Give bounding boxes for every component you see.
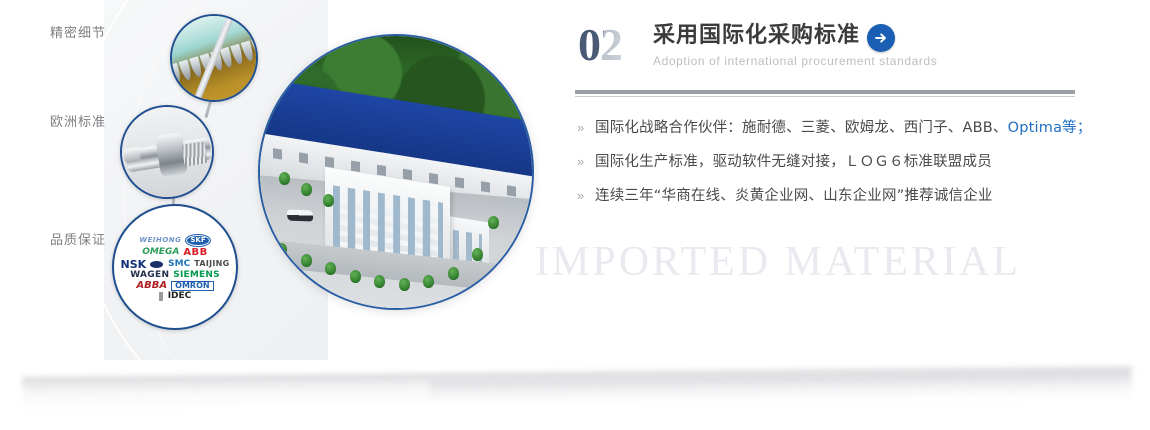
logo-omron: OMRON xyxy=(171,281,213,291)
logo-skf: SKF xyxy=(185,234,210,247)
screw-threads xyxy=(182,141,208,166)
section-header: 02 采用国际化采购标准 Adoption of international p… xyxy=(575,22,1095,88)
list-item: » 连续三年“华商在线、炎黄企业网、山东企业网”推荐诚信企业 xyxy=(577,186,1092,206)
right-content: 02 采用国际化采购标准 Adoption of international p… xyxy=(575,0,1095,430)
arrow-right-circle-icon[interactable] xyxy=(867,24,895,52)
bullet-text: 国际化生产标准，驱动软件无缝对接，ＬＯＧ６标准联盟成员 xyxy=(595,152,992,172)
bullet-text-highlight: Optima等； xyxy=(1008,120,1092,136)
list-item: » 国际化生产标准，驱动软件无缝对接，ＬＯＧ６标准联盟成员 xyxy=(577,152,1092,172)
watermark-text: IMPORTED MATERIAL xyxy=(535,238,1135,286)
bubble-brand-logos: WEIHONG SKF OMEGA ABB NSK SMC TAIJING WA… xyxy=(112,204,238,330)
page-root: 精密细节 欧洲标准 品质保证 WEIHONG SKF xyxy=(0,0,1150,430)
bullet-text: 连续三年“华商在线、炎黄企业网、山东企业网”推荐诚信企业 xyxy=(595,186,993,206)
factory-aerial-photo xyxy=(258,34,534,310)
label-quality-assurance: 品质保证 xyxy=(50,229,106,248)
bubble-blade-detail xyxy=(170,14,258,102)
logo-idec: IDEC xyxy=(168,292,192,301)
logo-smc: SMC xyxy=(168,260,190,269)
logo-omega: OMEGA xyxy=(142,248,179,257)
label-european-standard: 欧洲标准 xyxy=(50,111,106,130)
list-item: » 国际化战略合作伙伴：施耐德、三菱、欧姆龙、西门子、ABB、Optima等； xyxy=(577,118,1092,138)
chevron-double-right-icon: » xyxy=(577,186,595,206)
section-number: 02 xyxy=(578,22,622,68)
chevron-double-right-icon: » xyxy=(577,152,595,172)
logo-nsk: NSK xyxy=(120,259,146,270)
logo-abba: ABBA xyxy=(136,281,167,291)
logo-abb: ABB xyxy=(183,248,207,258)
bullet-text-main: 国际化战略合作伙伴：施耐德、三菱、欧姆龙、西门子、ABB、 xyxy=(595,120,1008,136)
header-text-block: 采用国际化采购标准 Adoption of international proc… xyxy=(653,22,937,68)
smc-ellipse-icon xyxy=(150,261,163,268)
bubble-ball-screw xyxy=(120,105,214,199)
header-divider xyxy=(575,90,1075,97)
logo-wagen: WAGEN xyxy=(130,271,169,280)
hero-car xyxy=(287,210,314,222)
logo-weihong: WEIHONG xyxy=(139,237,181,244)
screw-tip xyxy=(123,146,141,163)
label-precision-detail: 精密细节 xyxy=(50,22,106,41)
bullet-text: 国际化战略合作伙伴：施耐德、三菱、欧姆龙、西门子、ABB、Optima等； xyxy=(595,118,1092,138)
logo-taijing: TAIJING xyxy=(194,260,229,268)
bullet-list: » 国际化战略合作伙伴：施耐德、三菱、欧姆龙、西门子、ABB、Optima等； … xyxy=(577,118,1092,220)
chevron-double-right-icon: » xyxy=(577,118,595,138)
logo-siemens: SIEMENS xyxy=(173,271,220,280)
idec-bar-icon xyxy=(159,292,163,301)
page-subtitle: Adoption of international procurement st… xyxy=(653,54,937,68)
